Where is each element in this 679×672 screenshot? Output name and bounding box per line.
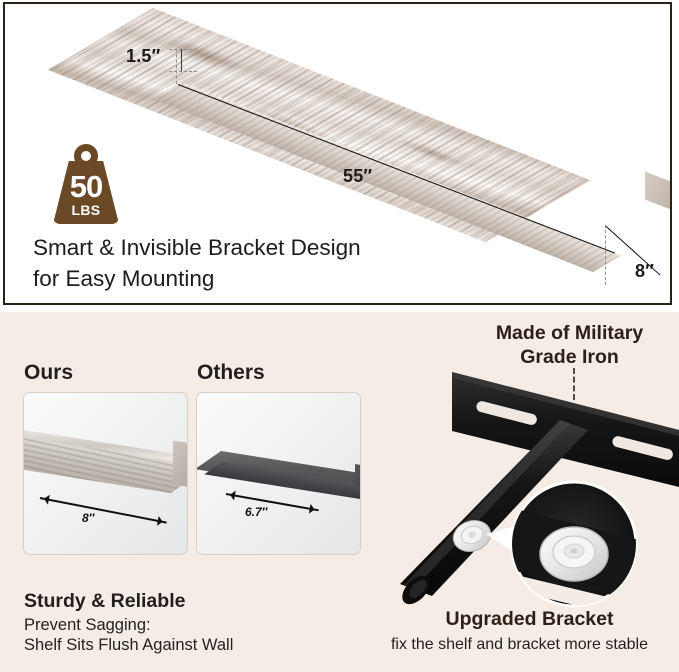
infographic-root: 1.5″ 55″ 8″ 50 LBS Smart & Invisible Bra… <box>0 0 679 672</box>
sturdy-caption-line-2: Shelf Sits Flush Against Wall <box>24 636 233 655</box>
thickness-leader-top <box>169 49 197 50</box>
dimension-depth-label: 8″ <box>635 261 654 282</box>
weight-badge-icon: 50 LBS <box>53 144 119 224</box>
ours-dimension-arrow <box>40 497 167 524</box>
dimension-length-label: 55″ <box>343 166 372 187</box>
military-grade-title: Made of Military Grade Iron <box>462 322 677 370</box>
comparison-card-ours: 8″ <box>23 392 188 555</box>
others-dimension-label: 6.7″ <box>245 505 267 519</box>
sturdy-caption-line-1: Prevent Sagging: <box>24 616 151 635</box>
thickness-extension-line <box>176 49 177 84</box>
others-shelf-end <box>355 464 361 488</box>
top-panel-headline: Smart & Invisible Bracket Design for Eas… <box>33 232 503 294</box>
comparison-card-others: 6.7″ <box>196 392 361 555</box>
military-grade-line-2: Grade Iron <box>462 346 677 370</box>
comparison-heading-others: Others <box>197 361 265 385</box>
top-panel: 1.5″ 55″ 8″ 50 LBS Smart & Invisible Bra… <box>3 2 672 305</box>
shelf-top-surface <box>48 8 590 242</box>
comparison-heading-ours: Ours <box>24 361 73 385</box>
upgraded-bracket-subtitle: fix the shelf and bracket more stable <box>360 636 679 654</box>
thickness-tick <box>181 49 182 71</box>
sturdy-caption-title: Sturdy & Reliable <box>24 590 185 613</box>
weight-badge-value: 50 <box>53 171 119 202</box>
ours-shelf-end <box>173 441 188 488</box>
dimension-thickness-label: 1.5″ <box>126 46 160 67</box>
shelf-end-cap <box>645 171 672 216</box>
depth-extension-line <box>605 225 606 285</box>
military-grade-leader-line <box>573 368 575 400</box>
weight-badge-unit: LBS <box>53 203 119 217</box>
ours-dimension-label: 8″ <box>82 511 94 525</box>
thickness-leader-bottom <box>169 71 197 72</box>
others-dimension-arrow <box>226 493 319 511</box>
headline-line-1: Smart & Invisible Bracket Design <box>33 232 503 263</box>
headline-line-2: for Easy Mounting <box>33 263 503 294</box>
shelf-3d-illustration <box>153 4 672 264</box>
upgraded-bracket-title: Upgraded Bracket <box>380 608 679 631</box>
military-grade-line-1: Made of Military <box>462 322 677 346</box>
